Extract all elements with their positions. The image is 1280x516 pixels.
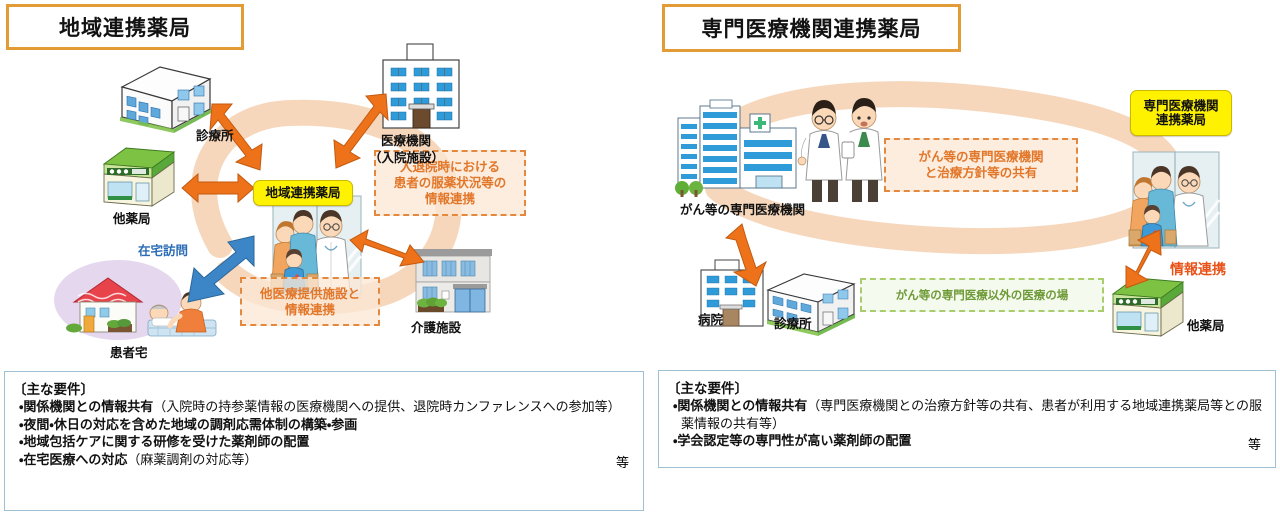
right-requirement-item-1: ・関係機関との情報共有（専門医療機関との治療方針等の共有、患者が利用する地域連携… — [673, 398, 1265, 433]
callout-facility-line1: 他医療提供施設と — [260, 286, 360, 302]
care-facility-label: 介護施設 — [411, 320, 461, 335]
center-badge-specialty-line1: 専門医療機関 — [1143, 99, 1218, 113]
hospital-label-line2: （入院施設） — [369, 150, 444, 165]
center-badge-local-text: 地域連携薬局 — [265, 186, 340, 200]
right-panel-title: 専門医療機関連携薬局 — [702, 13, 922, 43]
callout-share-line1: がん等の専門医療機関 — [918, 149, 1043, 165]
specialty-hospital-label: がん等の専門医療機関 — [680, 202, 805, 217]
home-visit-label: 在宅訪問 — [138, 243, 188, 258]
center-badge-specialty-line2: 連携薬局 — [1156, 113, 1206, 127]
center-badge-specialty: 専門医療機関 連携薬局 — [1130, 90, 1232, 136]
local-cooperation-pharmacy-panel: 地域連携薬局 診療所 — [0, 0, 650, 516]
callout-hospital-line3: 情報連携 — [425, 191, 475, 207]
center-badge-local: 地域連携薬局 — [253, 180, 353, 206]
right-panel-title-box: 専門医療機関連携薬局 — [662, 4, 961, 52]
other-pharmacy-label: 他薬局 — [113, 211, 151, 226]
left-requirements-heading: 〔主な要件〕 — [13, 378, 633, 398]
hospital-label-right: 病院 — [698, 312, 723, 327]
arrow-pharmacy-center — [178, 170, 258, 206]
arrow-hospital-clinic-right — [722, 222, 782, 288]
left-panel-title-box: 地域連携薬局 — [6, 4, 244, 50]
left-requirement-item-3: ・地域包括ケアに関する研修を受けた薬剤師の配置 — [19, 434, 633, 452]
callout-specialty-share: がん等の専門医療機関 と治療方針等の共有 — [884, 138, 1078, 192]
left-req-3-bold: ・地域包括ケアに関する研修を受けた薬剤師の配置 — [19, 435, 309, 450]
left-req-1-bold: ・関係機関との情報共有 — [19, 400, 153, 415]
left-panel-title: 地域連携薬局 — [59, 12, 191, 42]
other-pharmacy-illustration — [96, 138, 180, 210]
right-requirements-box: 〔主な要件〕 ・関係機関との情報共有（専門医療機関との治療方針等の共有、患者が利… — [658, 370, 1276, 468]
left-requirements-box: 〔主な要件〕 ・関係機関との情報共有（入院時の持参薬情報の医療機関への提供、退院… — [4, 371, 644, 511]
other-pharmacy-label-right: 他薬局 — [1187, 318, 1225, 333]
left-req-4-normal: （麻薬調剤の対応等） — [127, 453, 257, 468]
patient-home-label: 患者宅 — [110, 345, 148, 360]
info-link-label: 情報連携 — [1170, 262, 1226, 279]
callout-share-line2: と治療方針等の共有 — [925, 165, 1038, 181]
clinic-label-right: 診療所 — [774, 316, 812, 331]
callout-hospital-line2: 患者の服薬状況等の — [394, 175, 507, 191]
specialty-hospital-illustration — [672, 100, 802, 205]
left-req-1-normal: （入院時の持参薬情報の医療機関への提供、退院時カンファレンスへの参加等） — [153, 400, 620, 415]
callout-other-medical-settings: がん等の専門医療以外の医療の場 — [860, 278, 1104, 312]
right-req-1-bold: ・関係機関との情報共有 — [673, 399, 807, 414]
hospital-label-line1: 医療機関 — [381, 133, 431, 148]
left-req-2-bold: ・夜間・休日の対応を含めた地域の調剤応需体制の構築・参画 — [19, 418, 357, 433]
right-requirements-heading: 〔主な要件〕 — [667, 377, 1265, 397]
clinic-label: 診療所 — [196, 128, 234, 143]
left-requirement-item-2: ・夜間・休日の対応を含めた地域の調剤応需体制の構築・参画 — [19, 417, 633, 435]
left-requirement-item-1: ・関係機関との情報共有（入院時の持参薬情報の医療機関への提供、退院時カンファレン… — [19, 399, 633, 417]
specialty-cooperation-pharmacy-panel: 専門医療機関連携薬局 — [650, 0, 1280, 516]
right-req-2-bold: ・学会認定等の専門性が高い薬剤師の配置 — [673, 434, 911, 449]
callout-facility-line2: 情報連携 — [285, 302, 335, 318]
arrow-center-care-facility — [348, 228, 428, 276]
callout-facility-info: 他医療提供施設と 情報連携 — [240, 277, 380, 326]
callout-other-line1: がん等の専門医療以外の医療の場 — [896, 288, 1069, 303]
doctors-illustration — [798, 96, 894, 204]
left-req-4-bold: ・在宅医療への対応 — [19, 453, 127, 468]
arrow-info-link-right — [1118, 228, 1178, 290]
